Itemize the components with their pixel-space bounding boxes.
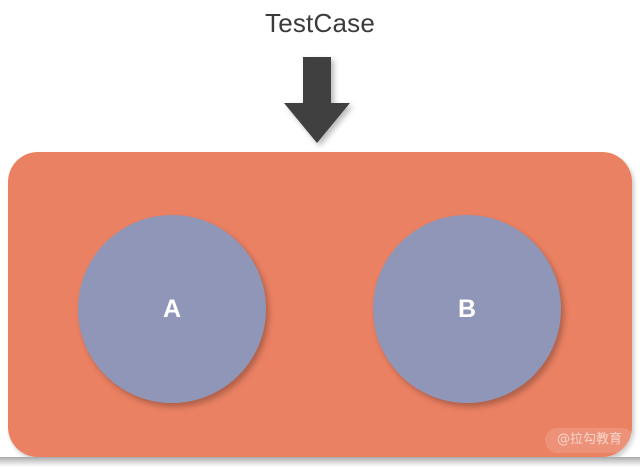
node-label-b: B bbox=[458, 297, 476, 322]
bottom-edge-strip bbox=[0, 457, 640, 467]
node-circle-a[interactable]: A bbox=[78, 215, 266, 403]
page-title: TestCase bbox=[0, 8, 640, 38]
watermark: @拉勾教育 bbox=[545, 428, 634, 453]
diagram-canvas: TestCase A B @拉勾教育 bbox=[0, 0, 640, 467]
node-label-a: A bbox=[163, 297, 181, 322]
arrow-down-icon bbox=[280, 55, 358, 151]
node-circle-b[interactable]: B bbox=[373, 215, 561, 403]
arrow-down-glyph bbox=[280, 55, 358, 151]
